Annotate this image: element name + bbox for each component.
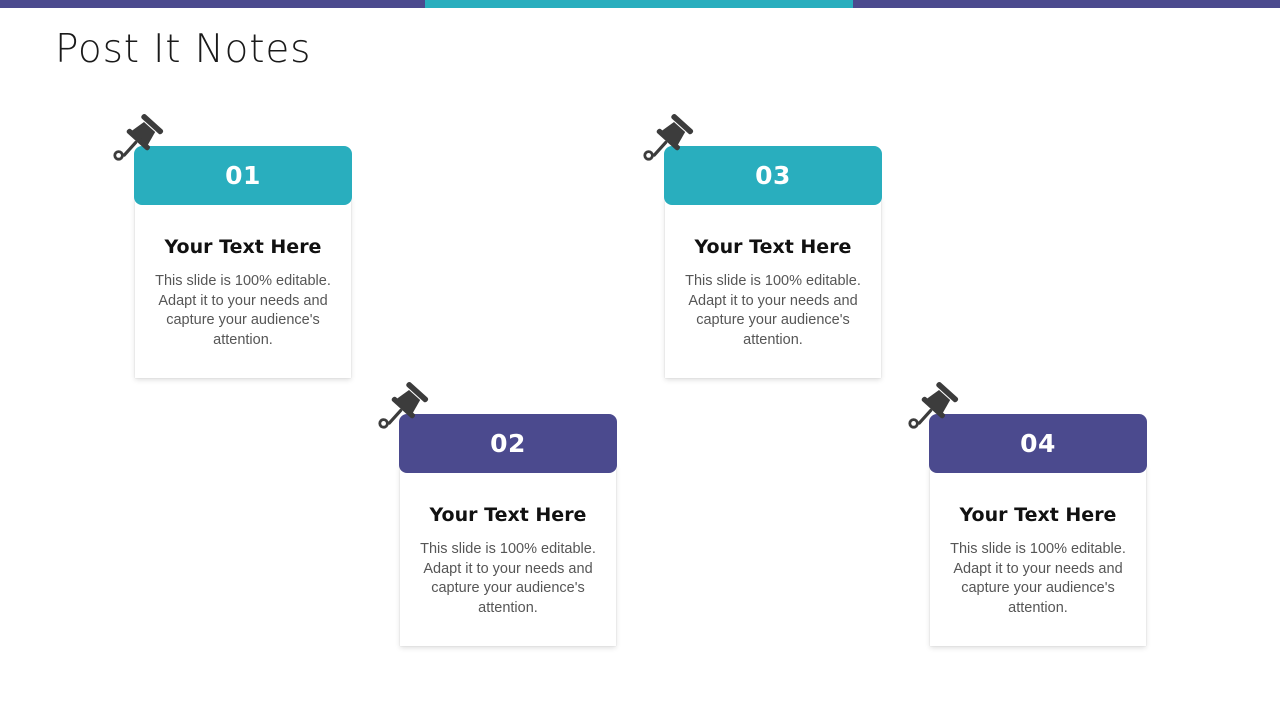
note-text-03: This slide is 100% editable. Adapt it to… [679, 272, 867, 350]
note-header-02[interactable]: 02 [399, 414, 617, 473]
pushpin-icon [901, 378, 963, 440]
pushpin-icon [371, 378, 433, 440]
top-accent-bar-middle-segment [425, 0, 853, 8]
note-body-03: Your Text Here This slide is 100% editab… [665, 197, 881, 378]
note-card-02[interactable]: 02 Your Text Here This slide is 100% edi… [399, 414, 617, 646]
note-text-01: This slide is 100% editable. Adapt it to… [149, 272, 337, 350]
note-header-04[interactable]: 04 [929, 414, 1147, 473]
note-heading-02: Your Text Here [414, 503, 602, 527]
top-accent-bar [0, 0, 1280, 8]
page-title: Post It Notes [55, 27, 311, 73]
note-number-01: 01 [225, 163, 261, 188]
note-text-04: This slide is 100% editable. Adapt it to… [944, 540, 1132, 618]
note-heading-01: Your Text Here [149, 235, 337, 259]
note-number-02: 02 [490, 431, 526, 456]
note-header-03[interactable]: 03 [664, 146, 882, 205]
note-card-04[interactable]: 04 Your Text Here This slide is 100% edi… [929, 414, 1147, 646]
note-body-02: Your Text Here This slide is 100% editab… [400, 465, 616, 646]
note-card-03[interactable]: 03 Your Text Here This slide is 100% edi… [664, 146, 882, 378]
pushpin-icon [106, 110, 168, 172]
note-body-04: Your Text Here This slide is 100% editab… [930, 465, 1146, 646]
note-header-01[interactable]: 01 [134, 146, 352, 205]
note-text-02: This slide is 100% editable. Adapt it to… [414, 540, 602, 618]
note-heading-03: Your Text Here [679, 235, 867, 259]
note-card-01[interactable]: 01 Your Text Here This slide is 100% edi… [134, 146, 352, 378]
note-heading-04: Your Text Here [944, 503, 1132, 527]
note-number-03: 03 [755, 163, 791, 188]
note-body-01: Your Text Here This slide is 100% editab… [135, 197, 351, 378]
pushpin-icon [636, 110, 698, 172]
note-number-04: 04 [1020, 431, 1056, 456]
